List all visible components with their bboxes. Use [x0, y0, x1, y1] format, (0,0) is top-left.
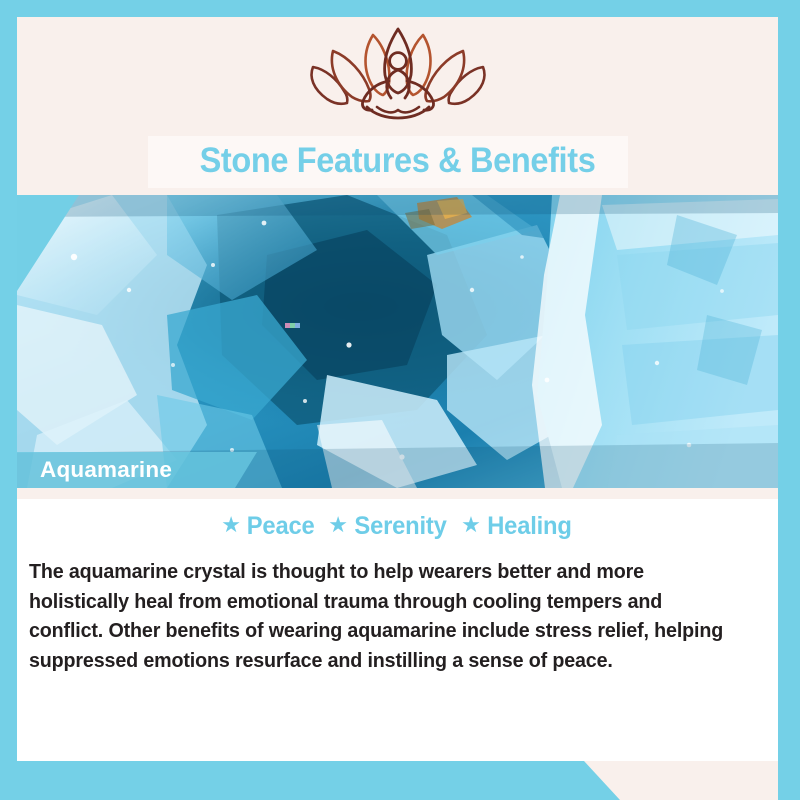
- stone-photo: [17, 195, 778, 488]
- photo-bottom-cream-strip: [17, 488, 778, 499]
- stone-name-label: Aquamarine: [40, 455, 172, 485]
- page-title: Stone Features & Benefits: [44, 132, 752, 190]
- keyword-healing: Healing: [487, 512, 571, 541]
- frame-right-border: [778, 0, 800, 800]
- star-icon: ★: [461, 512, 481, 538]
- frame-top-border: [0, 0, 800, 17]
- frame-bottom-accent-bar: [0, 761, 620, 800]
- description-paragraph: The aquamarine crystal is thought to hel…: [29, 558, 741, 676]
- frame-left-border: [0, 17, 17, 800]
- keyword-list: ★Peace ★Serenity ★Healing: [17, 512, 778, 541]
- infographic-card: BUDDHA STONES Stone Features & Benefits: [0, 0, 800, 800]
- star-icon: ★: [221, 512, 241, 538]
- lotus-meditation-figure-icon: [17, 23, 778, 132]
- keyword-peace: Peace: [247, 512, 315, 541]
- star-icon: ★: [328, 512, 348, 538]
- keyword-serenity: Serenity: [354, 512, 446, 541]
